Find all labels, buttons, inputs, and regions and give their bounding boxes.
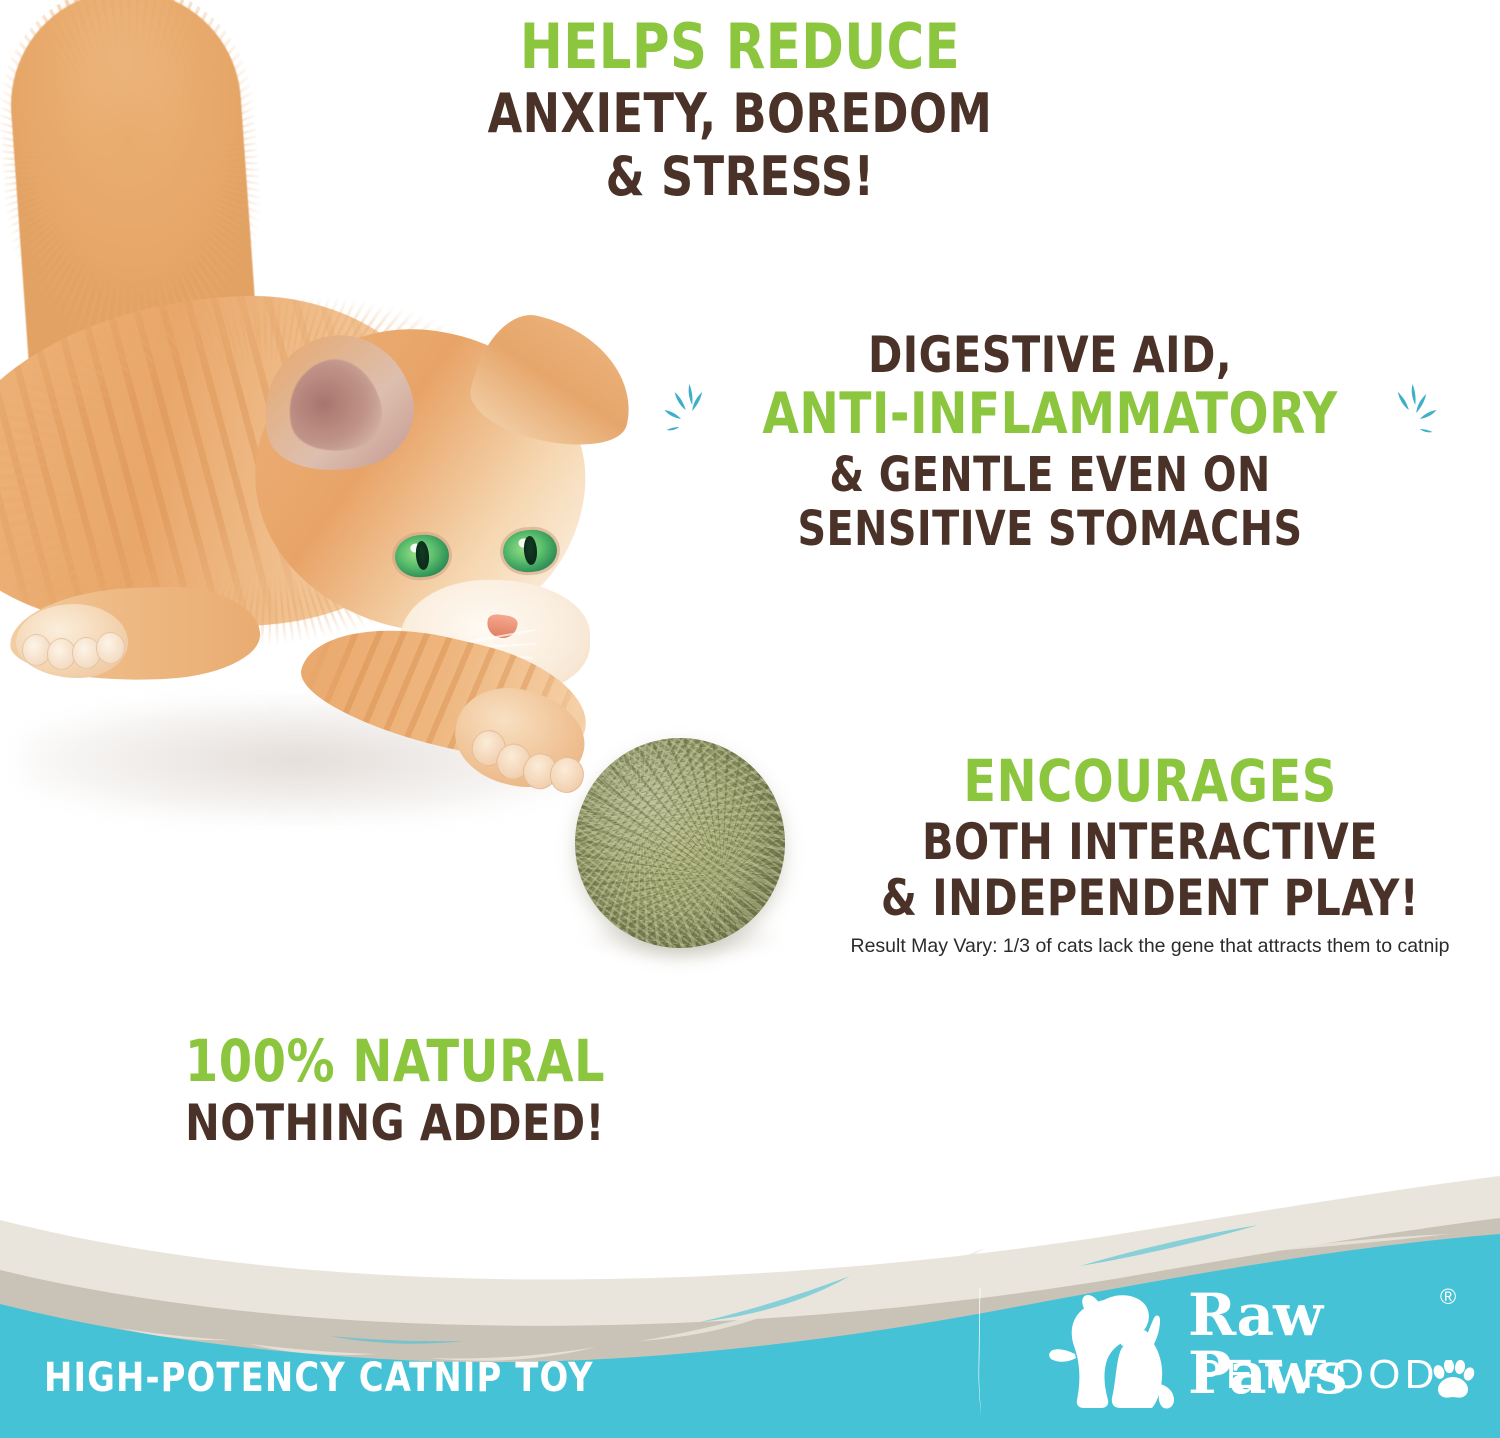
paw-print-icon	[1431, 1360, 1475, 1400]
benefit-natural: 100% NATURAL NOTHING ADDED!	[110, 1032, 680, 1148]
brand-tagline: PET FOOD	[1194, 1354, 1439, 1395]
catnip-flecks-overlay	[575, 738, 785, 948]
benefit-digestive-line-4: SENSITIVE STOMACHS	[682, 505, 1418, 553]
benefit-digestive: DIGESTIVE AID, ANTI-INFLAMMATORY	[650, 330, 1450, 553]
banner-product-title: HIGH-POTENCY CATNIP TOY	[44, 1355, 594, 1401]
kitten-back-paw	[16, 604, 128, 678]
benefit-digestive-line-3: & GENTLE EVEN ON	[682, 451, 1418, 499]
benefit-reduce-line-3: & STRESS!	[455, 150, 1025, 204]
benefit-digestive-line-2-wrap: ANTI-INFLAMMATORY	[682, 386, 1418, 443]
benefit-natural-line-1: 100% NATURAL	[133, 1032, 657, 1090]
benefit-encourages: ENCOURAGES BOTH INTERACTIVE & INDEPENDEN…	[810, 752, 1490, 957]
benefit-encourages-disclaimer: Result May Vary: 1/3 of cats lack the ge…	[810, 937, 1490, 957]
brand-logo: Raw Paws ® PET FOOD	[1048, 1278, 1448, 1426]
catnip-ball	[575, 738, 785, 948]
benefit-digestive-line-2: ANTI-INFLAMMATORY	[762, 381, 1337, 447]
banner-divider	[978, 1288, 983, 1416]
benefit-reduce-line-1: HELPS REDUCE	[455, 16, 1025, 78]
benefit-encourages-line-1: ENCOURAGES	[837, 752, 1463, 810]
dog-and-cat-silhouette-icon	[1048, 1284, 1180, 1420]
benefit-encourages-line-2: BOTH INTERACTIVE	[837, 817, 1463, 867]
infographic-canvas: HELPS REDUCE ANXIETY, BOREDOM & STRESS! …	[0, 0, 1500, 1438]
brand-wordmark: Raw Paws ® PET FOOD	[1188, 1284, 1458, 1420]
benefit-reduce: HELPS REDUCE ANXIETY, BOREDOM & STRESS!	[430, 16, 1050, 204]
benefit-digestive-line-1: DIGESTIVE AID,	[682, 330, 1418, 380]
registered-trademark-symbol: ®	[1440, 1284, 1456, 1310]
sparkle-burst-right-icon	[1385, 380, 1440, 450]
benefit-reduce-line-2: ANXIETY, BOREDOM	[455, 87, 1025, 141]
benefit-encourages-line-3: & INDEPENDENT PLAY!	[837, 873, 1463, 923]
sparkle-burst-left-icon	[662, 380, 717, 450]
